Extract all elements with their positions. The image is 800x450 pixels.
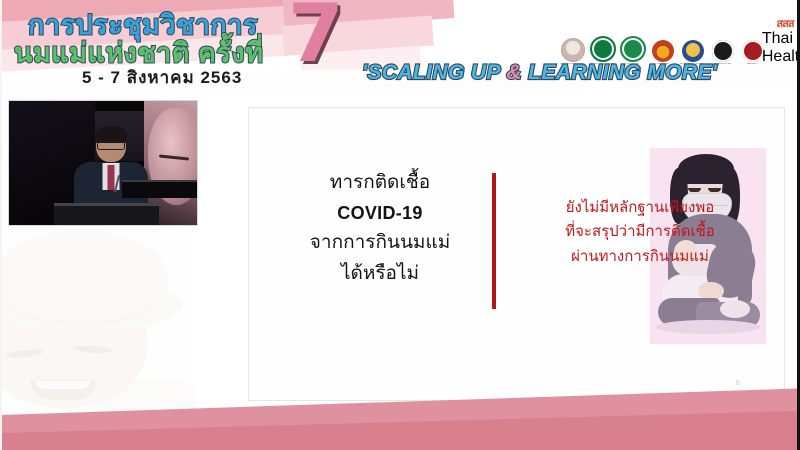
logo-caption: มูลนิธิศูนย์นมแม่แห่งประเทศไทย xyxy=(560,63,585,66)
logo-item: กระทรวงสาธารณสุข xyxy=(590,36,615,66)
question-line: จากการกินนมแม่ xyxy=(276,228,484,259)
logo-red-seal-icon xyxy=(742,40,764,62)
slide-frame-left-edge xyxy=(0,0,2,450)
question-line: ได้หรือไม่ xyxy=(276,259,484,290)
logo-item: กรมอนามัย xyxy=(620,36,645,66)
logo-item: ราชวิทยาลัย xyxy=(650,40,675,66)
question-line: ทารกติดเชื้อ xyxy=(276,168,484,199)
answer-line: ผ่านทางการกินนมแม่ xyxy=(500,245,780,269)
logo-caption: แพทยสภา xyxy=(747,63,758,66)
logo-item: สถาบันพระบรมราชชนก xyxy=(680,40,705,66)
photo-podium xyxy=(54,203,159,226)
tagline-text-part-1: 'SCALING UP xyxy=(362,61,506,84)
logo-breastfeeding-foundation-icon xyxy=(561,38,585,62)
photo-speaker-tie xyxy=(107,165,114,190)
illustration-mother-foot xyxy=(720,300,750,318)
tagline-ampersand: & xyxy=(506,61,522,84)
logo-royal-emblem-icon xyxy=(682,40,704,62)
logo-caption: สถาบันพระบรมราชชนก xyxy=(680,63,705,66)
answer-line: ที่จะสรุปว่ามีการติดเชื้อ xyxy=(500,220,780,244)
photo-speaker-glasses xyxy=(97,141,125,150)
question-block: ทารกติดเชื้อ COVID-19 จากการกินนมแม่ ได้… xyxy=(276,168,484,289)
vertical-red-divider xyxy=(492,173,496,309)
logo-item: สมาคมวิชาชีพ xyxy=(710,40,735,66)
illustration-floor-shadow xyxy=(656,320,760,334)
conference-date-range: 5 - 7 สิงหาคม 2563 xyxy=(82,64,242,91)
logo-ministry-public-health-icon xyxy=(590,36,616,62)
logo-caption: กระทรวงสาธารณสุข xyxy=(591,63,614,66)
logo-department-health-icon xyxy=(620,36,646,62)
logo-thaihealth-sss-icon: สสส xyxy=(776,19,793,30)
presentation-slide: การประชุมวิชาการ นมแม่แห่งชาติ ครั้งที่ … xyxy=(0,0,800,450)
sponsor-logo-strip: มูลนิธิศูนย์นมแม่แห่งประเทศไทย กระทรวงสา… xyxy=(560,19,800,66)
answer-block: ยังไม่มีหลักฐานเพียงพอ ที่จะสรุปว่ามีการ… xyxy=(500,196,780,269)
logo-item: มูลนิธิศูนย์นมแม่แห่งประเทศไทย xyxy=(560,38,585,66)
logo-royal-college-icon xyxy=(652,40,674,62)
logo-black-seal-icon xyxy=(712,40,734,62)
logo-caption: กรมอนามัย xyxy=(626,63,639,66)
logo-item: สสส Thai Health xyxy=(770,19,800,66)
illustration-eye-right xyxy=(708,188,721,192)
speaker-at-podium-photo xyxy=(8,100,198,226)
footer-decoration xyxy=(0,378,800,450)
logo-caption: สมาคมวิชาชีพ xyxy=(714,63,730,66)
logo-caption: ราชวิทยาลัย xyxy=(656,63,670,66)
question-line: COVID-19 xyxy=(276,199,484,228)
answer-line: ยังไม่มีหลักฐานเพียงพอ xyxy=(500,196,780,220)
logo-caption: Thai Health xyxy=(762,30,800,66)
photo-laptop xyxy=(122,180,197,198)
illustration-eye-left xyxy=(688,188,701,192)
conference-edition-number: 7 xyxy=(288,0,344,74)
